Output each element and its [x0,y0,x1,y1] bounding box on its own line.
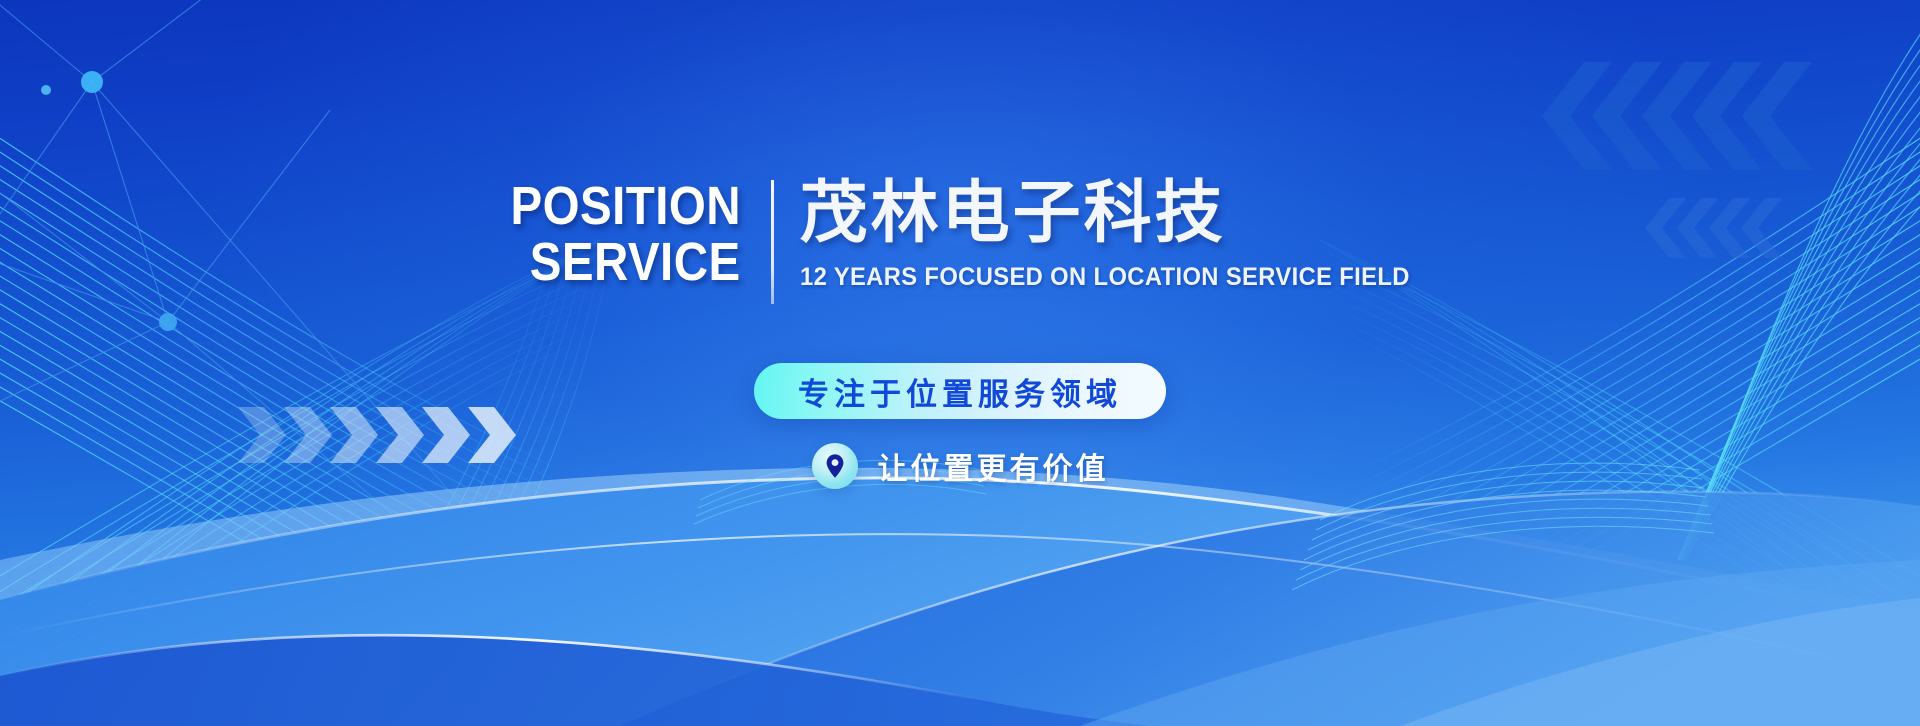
slogan-pill-label: 专注于位置服务领域 [798,369,1122,414]
english-subtitle: 12 YEARS FOCUSED ON LOCATION SERVICE FIE… [800,262,1410,292]
english-title-stack: POSITION SERVICE [479,176,741,304]
headline-row: POSITION SERVICE 茂林电子科技 12 YEARS FOCUSED… [0,176,1920,304]
hero-banner: POSITION SERVICE 茂林电子科技 12 YEARS FOCUSED… [0,0,1920,726]
english-title-line-2: SERVICE [530,234,741,290]
tagline-label: 让位置更有价值 [878,444,1109,488]
chinese-title-stack: 茂林电子科技 12 YEARS FOCUSED ON LOCATION SERV… [800,176,1442,304]
english-title-line-1: POSITION [510,178,741,234]
banner-content: POSITION SERVICE 茂林电子科技 12 YEARS FOCUSED… [0,0,1920,726]
slogan-pill: 专注于位置服务领域 [754,363,1166,419]
location-pin-icon [812,443,858,489]
slogan-pill-wrapper: 专注于位置服务领域 [0,363,1920,419]
tagline-wrapper: 让位置更有价值 [0,443,1920,489]
tagline: 让位置更有价值 [812,443,1109,489]
title-divider [771,180,774,304]
company-name-cn: 茂林电子科技 [800,176,1442,252]
